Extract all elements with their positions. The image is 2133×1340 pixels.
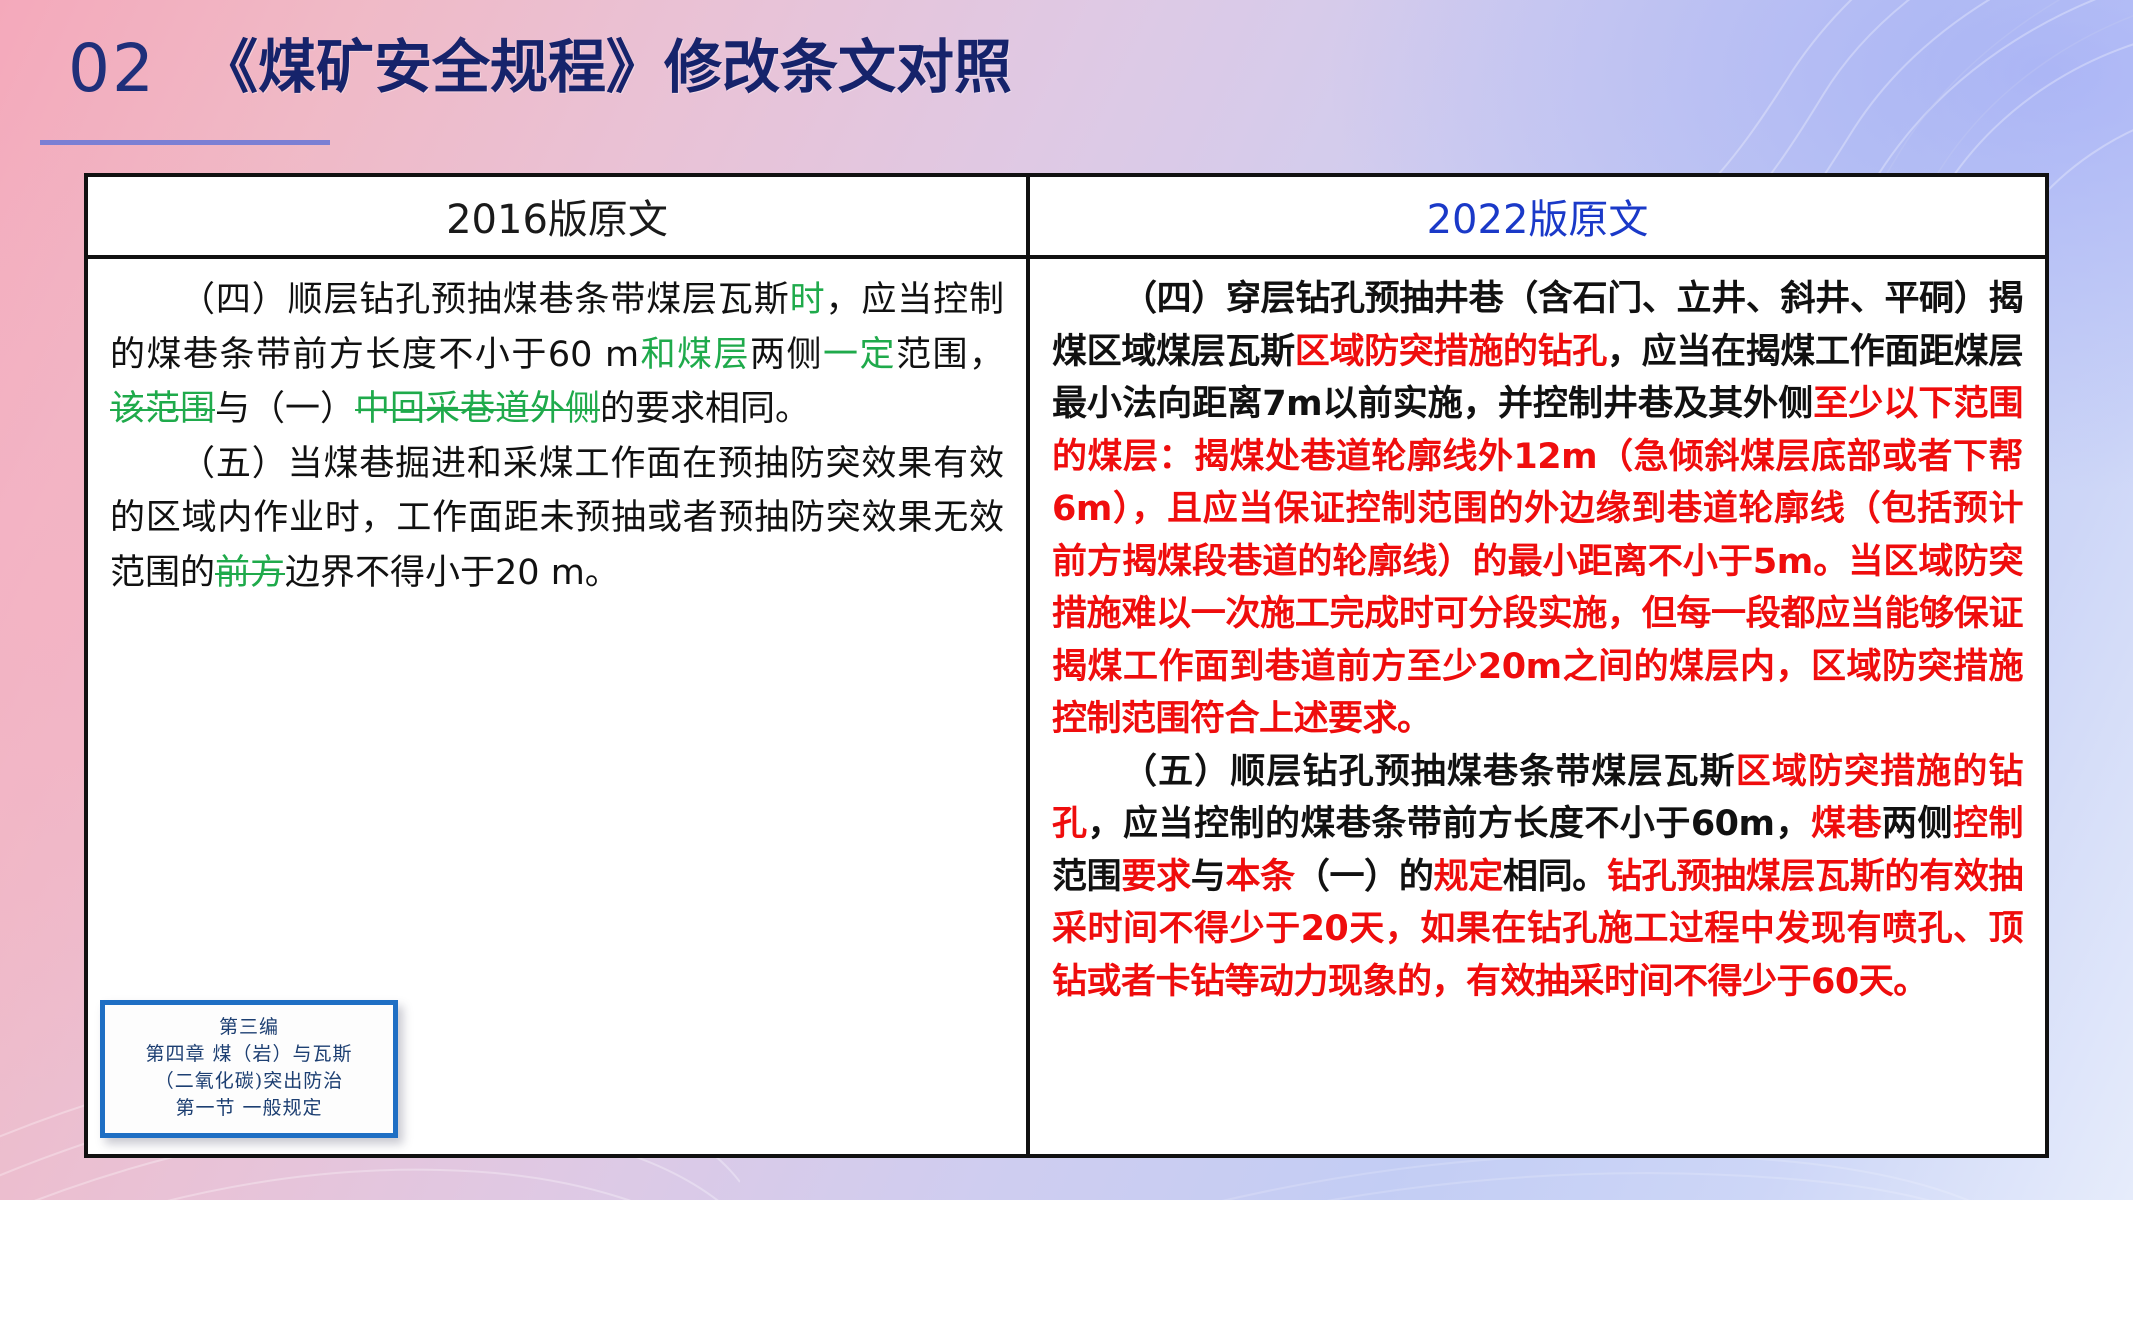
page-title: 《煤矿安全规程》修改条文对照 (200, 36, 1012, 99)
paragraph-2016-item-5: （五）当煤巷掘进和采煤工作面在预抽防突效果有效的区域内作业时，工作面距未预抽或者… (110, 437, 1004, 601)
struck-text: 前方 (215, 553, 285, 593)
text-seg: 与（一） (215, 389, 355, 429)
column-header-2016: 2016版原文 (88, 177, 1030, 255)
slide-background: 02 《煤矿安全规程》修改条文对照 2016版原文 2022版原文 （四）顺层钻… (0, 0, 2133, 1200)
badge-line-2: 第四章 煤（岩）与瓦斯 (109, 1041, 389, 1068)
struck-text: 中回采巷道外侧 (355, 389, 600, 429)
badge-line-3: （二氧化碳)突出防治 (109, 1068, 389, 1095)
badge-line-1: 第三编 (109, 1014, 389, 1041)
added-text: 本条 (1225, 857, 1294, 897)
slide-header: 02 《煤矿安全规程》修改条文对照 (0, 0, 2133, 150)
text-seg: 两侧 (750, 335, 823, 375)
cell-2022-original-text: （四）穿层钻孔预抽井巷（含石门、立井、斜井、平硐）揭煤区域煤层瓦斯区域防突措施的… (1030, 259, 2045, 1154)
badge-line-4: 第一节 一般规定 (109, 1095, 389, 1122)
deleted-text: 时 (790, 280, 826, 320)
added-text: 规定 (1434, 857, 1503, 897)
section-number: 02 (68, 36, 156, 102)
struck-text: 该范围 (110, 389, 215, 429)
text-seg: ，应当控制的煤巷条带前方长度不小于60m， (1088, 804, 1812, 844)
column-header-2022-label: 2022版原文 (1427, 187, 1649, 245)
added-text: 煤巷 (1811, 804, 1882, 844)
text-seg: （四）顺层钻孔预抽煤巷条带煤层瓦斯 (180, 280, 790, 320)
text-seg: 范围 (1052, 857, 1121, 897)
title-underline-rule (40, 140, 330, 145)
text-seg: 相同。 (1503, 857, 1607, 897)
text-seg: （一）的 (1295, 857, 1434, 897)
deleted-text: 一定 (823, 335, 896, 375)
paragraph-2016-item-4: （四）顺层钻孔预抽煤巷条带煤层瓦斯时，应当控制的煤巷条带前方长度不小于60 m和… (110, 273, 1004, 437)
text-seg: （五）顺层钻孔预抽煤巷条带煤层瓦斯 (1122, 752, 1736, 792)
text-seg: 与 (1191, 857, 1226, 897)
column-header-2022: 2022版原文 (1030, 177, 2045, 255)
deleted-text: 和煤层 (639, 335, 750, 375)
added-text: 要求 (1121, 857, 1190, 897)
paragraph-2022-item-4: （四）穿层钻孔预抽井巷（含石门、立井、斜井、平硐）揭煤区域煤层瓦斯区域防突措施的… (1052, 273, 2023, 746)
added-text: 区域防突措施的钻孔 (1295, 332, 1607, 372)
text-seg: 范围， (896, 335, 1004, 375)
paragraph-2022-item-5: （五）顺层钻孔预抽煤巷条带煤层瓦斯区域防突措施的钻孔，应当控制的煤巷条带前方长度… (1052, 746, 2023, 1009)
text-seg: 边界不得小于20 m。 (285, 553, 620, 593)
added-text: 控制 (1953, 804, 2023, 844)
text-seg: 两侧 (1882, 804, 1953, 844)
chapter-reference-badge: 第三编 第四章 煤（岩）与瓦斯 （二氧化碳)突出防治 第一节 一般规定 (100, 1000, 398, 1138)
column-header-2016-label: 2016版原文 (446, 187, 668, 245)
table-header-row: 2016版原文 2022版原文 (88, 177, 2045, 259)
added-text: 至少以下范围的煤层：揭煤处巷道轮廓线外12m（急倾斜煤层底部或者下帮6m），且应… (1052, 384, 2023, 739)
text-seg: 的要求相同。 (600, 389, 810, 429)
